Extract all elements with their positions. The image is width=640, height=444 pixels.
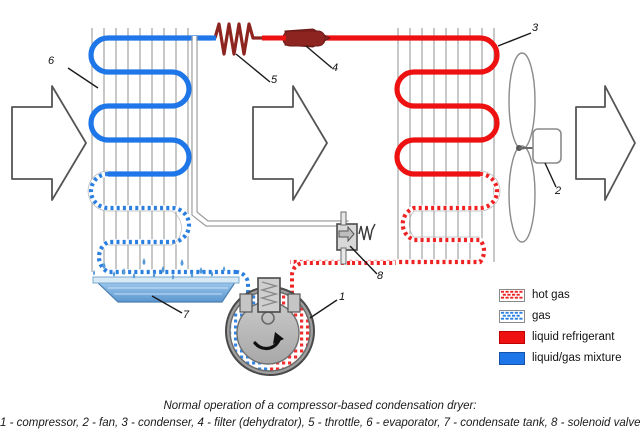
leader-5: [236, 54, 270, 82]
throttle: [215, 24, 262, 54]
callout-4: 4: [332, 62, 338, 74]
callout-7: 7: [183, 309, 189, 321]
legend-label-hot-gas: hot gas: [532, 289, 570, 302]
callout-6: 6: [48, 55, 54, 67]
legend-swatch-liquid-refrigerant: [499, 331, 525, 344]
legend-label-gas: gas: [532, 310, 551, 323]
legend-item-liquid-gas-mixture: liquid/gas mixture: [499, 349, 639, 368]
legend-item-gas: gas: [499, 307, 639, 326]
condenser-fins: [398, 28, 494, 262]
dryer-schematic: [0, 0, 640, 444]
legend: hot gas: [499, 286, 639, 370]
leader-2: [545, 163, 556, 187]
outlet-air-arrow: [576, 86, 635, 200]
condenser-coil-dotted-bg: [290, 174, 497, 262]
callout-3: 3: [532, 22, 538, 34]
leader-4: [306, 46, 332, 68]
callout-8: 8: [377, 270, 383, 282]
filter-dehydrator: [283, 29, 330, 47]
diagram-caption: Normal operation of a compressor-based c…: [0, 398, 640, 432]
inlet-air-arrow: [12, 86, 86, 200]
callout-5: 5: [271, 74, 277, 86]
legend-label-liquid-gas-mixture: liquid/gas mixture: [532, 352, 621, 365]
diagram-canvas: 6 5 4 3 2 1 8 7: [0, 0, 640, 444]
legend-swatch-hot-gas: [499, 289, 525, 302]
leader-1: [310, 300, 337, 318]
condensate-droplets: [93, 258, 225, 280]
fan[interactable]: [509, 53, 561, 242]
callout-2: 2: [555, 185, 561, 197]
legend-item-hot-gas: hot gas: [499, 286, 639, 305]
solenoid-valve[interactable]: [337, 212, 375, 264]
caption-line-2: 1 - compressor, 2 - fan, 3 - condenser, …: [0, 415, 640, 432]
leader-6: [68, 68, 98, 88]
legend-label-liquid-refrigerant: liquid refrigerant: [532, 331, 614, 344]
evaporator-fins: [92, 28, 188, 272]
legend-item-liquid-refrigerant: liquid refrigerant: [499, 328, 639, 347]
condensate-tank: [93, 277, 239, 302]
middle-air-arrow: [253, 86, 327, 200]
caption-line-1: Normal operation of a compressor-based c…: [0, 398, 640, 415]
compressor[interactable]: [226, 278, 314, 375]
legend-swatch-gas: [499, 310, 525, 323]
condenser-coil-dotted: [290, 174, 497, 262]
callout-1: 1: [339, 291, 345, 303]
leader-3: [498, 33, 531, 46]
legend-swatch-liquid-gas-mixture: [499, 352, 525, 365]
solenoid-coil-symbol: [359, 224, 375, 240]
